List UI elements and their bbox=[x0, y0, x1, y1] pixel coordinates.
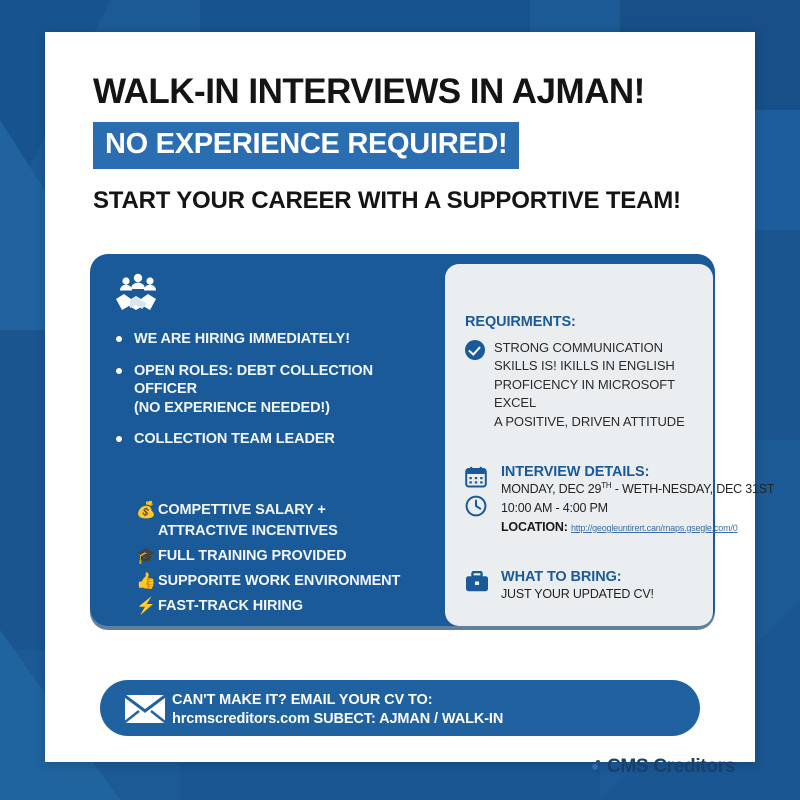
handshake-people-icon bbox=[112, 272, 164, 316]
list-item: WE ARE HIRING IMMEDIATELY! bbox=[112, 330, 432, 349]
requirement-line: STRONG COMMUNICATION bbox=[494, 339, 711, 357]
details-panel: REQUIRMENTS: STRONG COMMUNICATION SKILLS… bbox=[445, 264, 713, 626]
envelope-icon bbox=[124, 694, 166, 729]
benefit-label: FAST-TRACK HIRING bbox=[158, 596, 303, 617]
benefit-item: 👍 SUPPORITE WORK ENVIRONMENT bbox=[134, 571, 464, 592]
money-bag-icon: 💰 bbox=[134, 500, 158, 521]
benefit-label: ATTRACTIVE INCENTIVES bbox=[158, 521, 338, 542]
list-item: OPEN ROLES: DEBT COLLECTION OFFICER bbox=[112, 362, 432, 399]
email-text-block: CAN'T MAKE IT? EMAIL YOUR CV TO: hrcmscr… bbox=[172, 691, 503, 730]
details-icon-column bbox=[465, 464, 501, 536]
interview-time: 10:00 AM - 4:00 PM bbox=[501, 499, 774, 518]
bring-text-column: WHAT TO BRING: JUST YOUR UPDATED CV! bbox=[501, 569, 705, 604]
benefits-list: 💰 COMPETTIVE SALARY + ATTRACTIVE INCENTI… bbox=[134, 500, 464, 621]
graduation-cap-icon: 🎓 bbox=[134, 546, 158, 567]
date-suffix: TH bbox=[601, 481, 611, 490]
lightning-bolt-icon: ⚡ bbox=[134, 596, 158, 617]
poster-root: WALK-IN INTERVIEWS IN AJMAN! NO EXPERIEN… bbox=[0, 0, 800, 800]
main-info-card: WE ARE HIRING IMMEDIATELY! OPEN ROLES: D… bbox=[90, 254, 715, 626]
email-line-2: hrcmscreditors.com SUBECT: AJMAN / WALK-… bbox=[172, 710, 503, 729]
benefit-item-continuation: ATTRACTIVE INCENTIVES bbox=[158, 521, 464, 542]
what-to-bring-line: JUST YOUR UPDATED CV! bbox=[501, 585, 705, 604]
clock-icon bbox=[465, 495, 487, 517]
what-to-bring-heading: WHAT TO BRING: bbox=[501, 569, 705, 585]
benefit-label: COMPETTIVE SALARY + bbox=[158, 500, 326, 521]
benefit-label: FULL TRAINING PROVIDED bbox=[158, 546, 346, 567]
what-to-bring-block: WHAT TO BRING: JUST YOUR UPDATED CV! bbox=[465, 569, 705, 604]
requirements-text: STRONG COMMUNICATION SKILLS IS! IKILLS I… bbox=[494, 339, 711, 431]
benefit-item: 💰 COMPETTIVE SALARY + bbox=[134, 500, 464, 521]
interview-details-block: INTERVIEW DETAILS: MONDAY, DEC 29TH - WE… bbox=[465, 464, 715, 536]
requirements-block: REQUIRMENTS: STRONG COMMUNICATION SKILLS… bbox=[465, 314, 711, 431]
poster-card: WALK-IN INTERVIEWS IN AJMAN! NO EXPERIEN… bbox=[45, 32, 755, 762]
requirements-heading: REQUIRMENTS: bbox=[465, 314, 711, 330]
benefit-label: SUPPORITE WORK ENVIRONMENT bbox=[158, 571, 400, 592]
location-label: LOCATION: bbox=[501, 520, 568, 534]
headline-banner: NO EXPERIENCE REQUIRED! bbox=[93, 122, 519, 169]
thumbs-up-icon: 👍 bbox=[134, 571, 158, 592]
headline-primary: WALK-IN INTERVIEWS IN AJMAN! bbox=[93, 74, 718, 111]
brand-name: CMS Creditors bbox=[607, 756, 735, 778]
email-line-1: CAN'T MAKE IT? EMAIL YOUR CV TO: bbox=[172, 691, 503, 710]
benefit-item: ⚡ FAST-TRACK HIRING bbox=[134, 596, 464, 617]
interview-details-row: INTERVIEW DETAILS: MONDAY, DEC 29TH - WE… bbox=[465, 464, 715, 536]
location-link[interactable]: http://geogleuntirert.can/maps.gsegle.co… bbox=[571, 523, 738, 533]
requirements-rows: STRONG COMMUNICATION SKILLS IS! IKILLS I… bbox=[465, 339, 711, 431]
list-item: COLLECTION TEAM LEADER bbox=[112, 430, 432, 449]
interview-location: LOCATION: http://geogleuntirert.can/maps… bbox=[501, 518, 774, 537]
interview-details-heading: INTERVIEW DETAILS: bbox=[501, 464, 774, 480]
headline-block: WALK-IN INTERVIEWS IN AJMAN! NO EXPERIEN… bbox=[93, 74, 718, 215]
requirement-line: A POSITIVE, DRIVEN ATTITUDE bbox=[494, 413, 711, 431]
check-circle-icon bbox=[465, 340, 485, 360]
what-to-bring-row: WHAT TO BRING: JUST YOUR UPDATED CV! bbox=[465, 569, 705, 604]
calendar-icon bbox=[465, 466, 487, 488]
left-column: WE ARE HIRING IMMEDIATELY! OPEN ROLES: D… bbox=[112, 272, 432, 462]
brand-logo: CMS Creditors bbox=[592, 756, 735, 778]
requirement-line: PROFICENCY IN MICROSOFT EXCEL bbox=[494, 376, 711, 413]
bring-icon-column bbox=[465, 569, 501, 598]
briefcase-icon bbox=[465, 571, 489, 593]
requirement-line: SKILLS IS! IKILLS IN ENGLISH bbox=[494, 357, 711, 375]
headline-tagline: START YOUR CAREER WITH A SUPPORTIVE TEAM… bbox=[93, 187, 718, 215]
open-roles-list: WE ARE HIRING IMMEDIATELY! OPEN ROLES: D… bbox=[112, 330, 432, 449]
interview-dates: MONDAY, DEC 29TH - WETH-NESDAY, DEC 31ST bbox=[501, 480, 774, 499]
list-item: (NO EXPERIENCE NEEDED!) bbox=[112, 399, 432, 418]
cms-logo-mark-icon bbox=[592, 757, 605, 777]
email-cta-strip[interactable]: CAN'T MAKE IT? EMAIL YOUR CV TO: hrcmscr… bbox=[100, 680, 700, 736]
details-text-column: INTERVIEW DETAILS: MONDAY, DEC 29TH - WE… bbox=[501, 464, 774, 536]
benefit-item: 🎓 FULL TRAINING PROVIDED bbox=[134, 546, 464, 567]
